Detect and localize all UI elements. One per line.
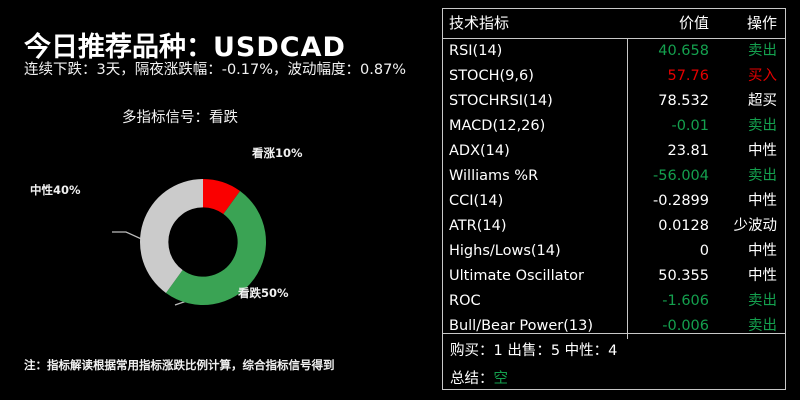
indicator-action: 超买 <box>715 89 785 114</box>
table-row[interactable]: MACD(12,26)-0.01卖出 <box>443 114 785 139</box>
indicator-value: 78.532 <box>627 89 715 114</box>
indicator-action: 卖出 <box>715 39 785 65</box>
indicator-value: 50.355 <box>627 264 715 289</box>
table-row[interactable]: STOCH(9,6)57.76买入 <box>443 64 785 89</box>
table-summary-footer: 购买：1 出售：5 中性：4 总结：空 <box>443 333 785 389</box>
indicator-name: STOCH(9,6) <box>443 64 627 89</box>
donut-label-neutral: 中性40% <box>30 182 81 198</box>
overall-summary: 总结：空 <box>450 367 778 388</box>
table-row[interactable]: ADX(14)23.81中性 <box>443 139 785 164</box>
indicator-name: ATR(14) <box>443 214 627 239</box>
indicator-action: 卖出 <box>715 114 785 139</box>
indicator-action: 中性 <box>715 264 785 289</box>
indicator-action: 卖出 <box>715 164 785 189</box>
column-header-indicator: 技术指标 <box>443 9 627 39</box>
table-header-row: 技术指标 价值 操作 <box>443 9 785 39</box>
indicator-action: 中性 <box>715 139 785 164</box>
indicator-name: MACD(12,26) <box>443 114 627 139</box>
overall-summary-label: 总结： <box>450 371 494 387</box>
table-row[interactable]: Williams %R-56.004卖出 <box>443 164 785 189</box>
indicator-action: 中性 <box>715 189 785 214</box>
table-header: 技术指标 价值 操作 <box>443 9 785 39</box>
donut-svg <box>0 120 430 345</box>
indicator-name: Williams %R <box>443 164 627 189</box>
indicator-name: ROC <box>443 289 627 314</box>
indicator-value: -0.2899 <box>627 189 715 214</box>
table-row[interactable]: Highs/Lows(14)0中性 <box>443 239 785 264</box>
table-row[interactable]: RSI(14)40.658卖出 <box>443 39 785 65</box>
overall-summary-value: 空 <box>494 371 509 387</box>
technical-indicators-table: 技术指标 价值 操作 RSI(14)40.658卖出STOCH(9,6)57.7… <box>443 9 785 339</box>
table-row[interactable]: ATR(14)0.0128少波动 <box>443 214 785 239</box>
table-row[interactable]: CCI(14)-0.2899中性 <box>443 189 785 214</box>
donut-label-bearish: 看跌50% <box>238 285 289 301</box>
indicator-name: Ultimate Oscillator <box>443 264 627 289</box>
indicator-action: 买入 <box>715 64 785 89</box>
indicator-action: 少波动 <box>715 214 785 239</box>
signal-counts: 购买：1 出售：5 中性：4 <box>450 339 778 360</box>
table-body: RSI(14)40.658卖出STOCH(9,6)57.76买入STOCHRSI… <box>443 39 785 340</box>
analysis-screenshot: 今日推荐品种：USDCAD 连续下跌：3天，隔夜涨跌幅：-0.17%，波动幅度：… <box>0 0 800 400</box>
indicator-name: ADX(14) <box>443 139 627 164</box>
column-header-action: 操作 <box>715 9 785 39</box>
indicator-value: 57.76 <box>627 64 715 89</box>
indicator-value: 0 <box>627 239 715 264</box>
indicator-name: STOCHRSI(14) <box>443 89 627 114</box>
table-row[interactable]: ROC-1.606卖出 <box>443 289 785 314</box>
column-header-value: 价值 <box>627 9 715 39</box>
donut-label-bullish: 看涨10% <box>252 145 303 161</box>
indicator-value: -1.606 <box>627 289 715 314</box>
indicator-name: CCI(14) <box>443 189 627 214</box>
indicator-name: Highs/Lows(14) <box>443 239 627 264</box>
signal-donut-chart: 看涨10% 看跌50% 中性40% <box>0 120 430 345</box>
indicator-value: -56.004 <box>627 164 715 189</box>
indicator-value: 23.81 <box>627 139 715 164</box>
technical-indicators-panel: 技术指标 价值 操作 RSI(14)40.658卖出STOCH(9,6)57.7… <box>442 8 786 390</box>
page-subtitle: 连续下跌：3天，隔夜涨跌幅：-0.17%，波动幅度：0.87% <box>24 58 406 79</box>
indicator-value: 40.658 <box>627 39 715 65</box>
indicator-name: RSI(14) <box>443 39 627 65</box>
table-row[interactable]: STOCHRSI(14)78.532超买 <box>443 89 785 114</box>
left-panel: 今日推荐品种：USDCAD 连续下跌：3天，隔夜涨跌幅：-0.17%，波动幅度：… <box>0 0 430 400</box>
table-row[interactable]: Ultimate Oscillator50.355中性 <box>443 264 785 289</box>
indicator-value: 0.0128 <box>627 214 715 239</box>
indicator-action: 卖出 <box>715 289 785 314</box>
indicator-value: -0.01 <box>627 114 715 139</box>
indicator-action: 中性 <box>715 239 785 264</box>
footnote: 注：指标解读根据常用指标涨跌比例计算，综合指标信号得到 <box>24 357 335 373</box>
